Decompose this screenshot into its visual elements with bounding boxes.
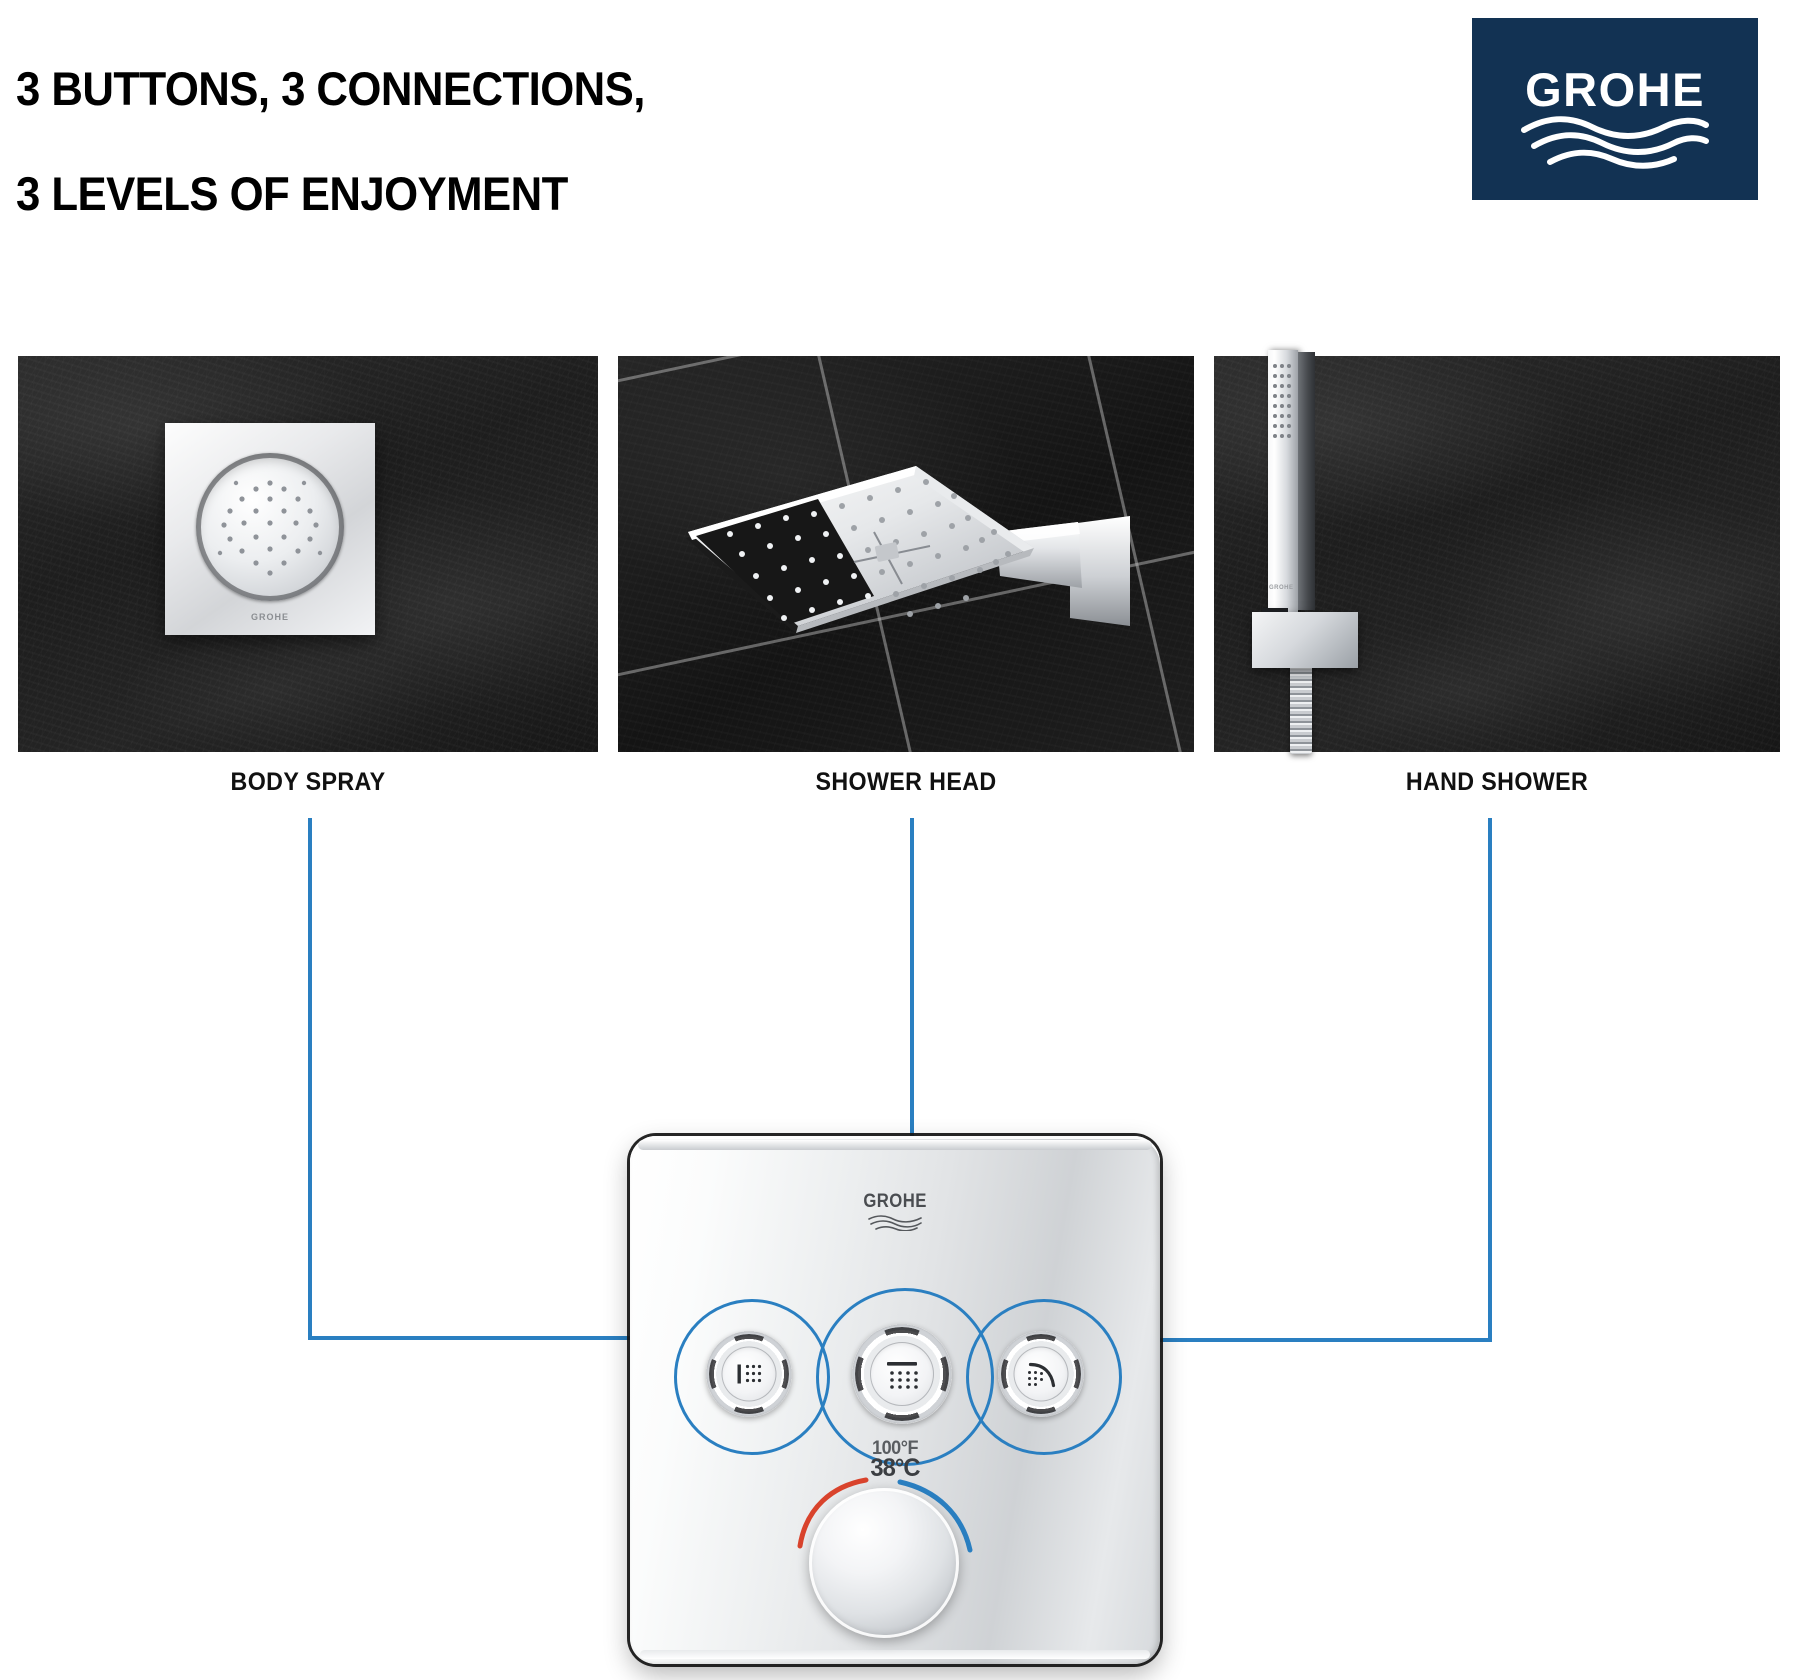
page-title-line-2: 3 LEVELS OF ENJOYMENT (16, 168, 946, 221)
page-title: 3 BUTTONS, 3 CONNECTIONS, 3 LEVELS OF EN… (16, 10, 946, 273)
grohe-wave-logo-icon (1520, 114, 1710, 170)
hand-shower-nozzle-holes-icon (1270, 360, 1296, 446)
thermostat-knob[interactable] (809, 1488, 959, 1638)
button-face (1014, 1347, 1069, 1402)
caption-hand-shower: HAND SHOWER (1234, 768, 1760, 797)
shower-head-button[interactable] (852, 1324, 952, 1424)
body-spray-plate: GROHE (165, 423, 375, 635)
page-title-line-1: 3 BUTTONS, 3 CONNECTIONS, (16, 63, 946, 116)
hand-shower-wall-bracket (1252, 612, 1358, 668)
button-face (722, 1347, 777, 1402)
panel-brand-wordmark: GROHE (863, 1191, 927, 1213)
product-photo-body-spray: GROHE (18, 356, 598, 752)
panel-bottom-bevel (640, 1650, 1150, 1659)
body-spray-jet-holes-icon (196, 453, 344, 601)
caption-shower-head: SHOWER HEAD (638, 768, 1174, 797)
hand-shower-wand (1268, 350, 1298, 612)
body-spray-nozzle-disc (196, 453, 344, 601)
button-face (870, 1342, 934, 1406)
hand-shower-wand-logo: GROHE (1269, 585, 1294, 591)
product-photo-shower-head (618, 356, 1194, 752)
hand-shower-icon (1014, 1347, 1069, 1402)
hand-shower-wand-side (1298, 352, 1315, 610)
grohe-wave-logo-icon (867, 1214, 923, 1231)
panel-brand: GROHE (630, 1191, 1160, 1231)
hand-shower-button[interactable] (998, 1331, 1084, 1417)
body-spray-icon (722, 1347, 777, 1402)
hand-shower-hose (1290, 662, 1312, 754)
rain-shower-head (678, 436, 1148, 706)
panel-top-bevel (638, 1140, 1152, 1150)
grohe-wordmark: GROHE (1472, 62, 1758, 117)
body-spray-plate-logo: GROHE (251, 612, 289, 622)
body-spray-button[interactable] (706, 1331, 792, 1417)
shower-head-icon (870, 1342, 934, 1406)
caption-body-spray: BODY SPRAY (38, 768, 577, 797)
knob-chrome-ring (805, 1484, 963, 1642)
grohe-logo: GROHE (1472, 18, 1758, 200)
smartcontrol-panel[interactable]: GROHE (630, 1136, 1160, 1664)
